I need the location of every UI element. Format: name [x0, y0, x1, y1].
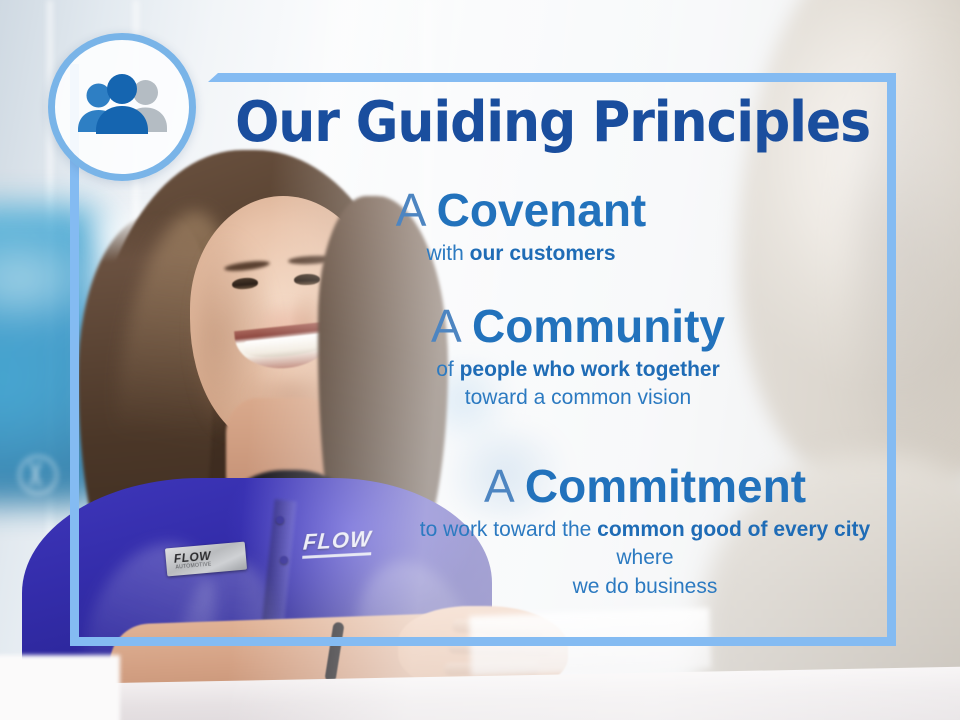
principle-lead: A — [484, 460, 525, 512]
subtext-line-2: we do business — [573, 575, 718, 598]
principle-subtext: with our customers — [273, 240, 769, 267]
banner-canvas: FLOW FLOW AUTOMOTIVE — [0, 0, 960, 720]
people-badge-circle — [48, 33, 196, 181]
page-title: Our Guiding Principles — [235, 95, 849, 151]
subtext-plain-before: of — [436, 358, 459, 381]
employee-teeth — [243, 333, 329, 361]
people-group-icon — [70, 74, 174, 140]
subtext-line-2: toward a common vision — [465, 386, 691, 409]
car-emblem-icon — [18, 455, 58, 495]
principle-subtext: to work toward the common good of every … — [400, 516, 890, 600]
frame-border-top — [208, 73, 896, 82]
desk-surface-left — [0, 655, 120, 720]
principle-community: A Community of people who work together … — [330, 302, 826, 411]
frame-border-bottom — [70, 637, 896, 646]
shirt-flow-logo: FLOW — [302, 526, 372, 556]
principle-subtext: of people who work together toward a com… — [330, 356, 826, 411]
subtext-plain-after: where — [616, 546, 673, 569]
principle-heading: A Commitment — [400, 462, 890, 510]
subtext-emphasis: common good of every city — [597, 518, 870, 541]
subtext-emphasis: our customers — [470, 242, 616, 265]
principle-covenant: A Covenant with our customers — [273, 186, 769, 268]
shirt-button — [276, 516, 284, 524]
principle-word: Covenant — [437, 184, 647, 236]
principle-lead: A — [396, 184, 437, 236]
subtext-plain-before: with — [426, 242, 469, 265]
principle-word: Commitment — [525, 460, 806, 512]
principle-lead: A — [431, 300, 472, 352]
principle-heading: A Covenant — [273, 186, 769, 234]
principle-heading: A Community — [330, 302, 826, 350]
principle-word: Community — [472, 300, 725, 352]
subtext-plain-before: to work toward the — [420, 518, 597, 541]
shirt-button — [280, 556, 288, 564]
principle-commitment: A Commitment to work toward the common g… — [400, 462, 890, 601]
subtext-emphasis: people who work together — [460, 358, 720, 381]
